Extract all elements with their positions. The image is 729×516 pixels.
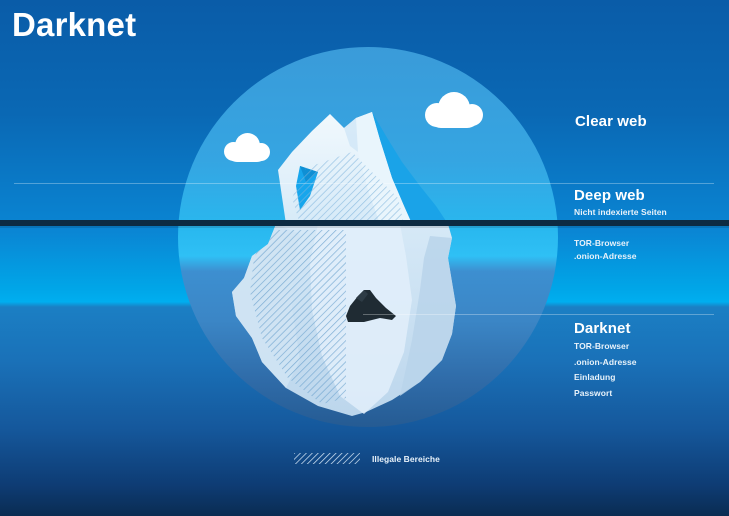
page-title: Darknet <box>12 6 136 44</box>
darknet-item-0: TOR-Browser <box>574 340 637 353</box>
deep-web-divider <box>14 183 714 184</box>
label-clear-web: Clear web <box>575 113 647 130</box>
legend-label: Illegale Bereiche <box>372 454 440 464</box>
deep-web-heading: Deep web <box>574 187 667 204</box>
legend: Illegale Bereiche <box>294 453 440 464</box>
iceberg-below-water <box>232 224 456 416</box>
tor-access-line-2: .onion-Adresse <box>574 250 637 263</box>
clear-web-heading: Clear web <box>575 113 647 130</box>
darknet-item-1: .onion-Adresse <box>574 356 637 369</box>
iceberg-above-water <box>278 112 448 224</box>
darknet-item-3: Passwort <box>574 387 637 400</box>
darknet-item-2: Einladung <box>574 371 637 384</box>
water-surface-line <box>0 220 729 226</box>
darknet-heading: Darknet <box>574 320 637 337</box>
label-deep-web: Deep web Nicht indexierte Seiten <box>574 187 667 219</box>
label-tor-access: TOR-Browser .onion-Adresse <box>574 237 637 262</box>
label-darknet: Darknet TOR-Browser .onion-Adresse Einla… <box>574 320 637 399</box>
legend-hatch-swatch <box>294 453 360 464</box>
tor-access-line-1: TOR-Browser <box>574 237 637 250</box>
cloud-icon-small <box>224 133 270 162</box>
infographic-canvas: Darknet Clear web Deep web Nicht indexie… <box>0 0 729 516</box>
cloud-icon-large <box>425 92 483 128</box>
deep-web-subtitle: Nicht indexierte Seiten <box>574 206 667 219</box>
darknet-divider <box>363 314 714 315</box>
